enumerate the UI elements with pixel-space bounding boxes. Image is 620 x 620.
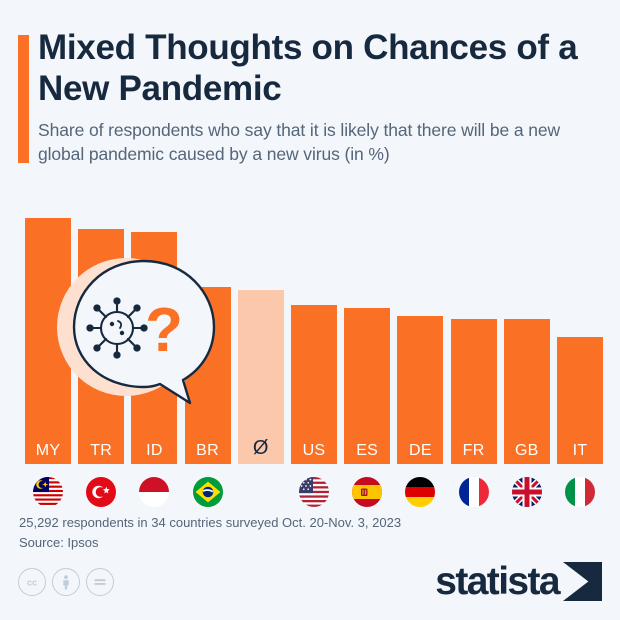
bar-country-code: GB	[504, 442, 550, 460]
bar-country-code: TR	[78, 442, 124, 460]
bar-rect	[185, 287, 231, 464]
creative-commons-icons: cc	[18, 568, 114, 596]
cc-no-derivatives-icon[interactable]	[86, 568, 114, 596]
header: Mixed Thoughts on Chances of a New Pande…	[0, 0, 620, 175]
svg-text:cc: cc	[27, 578, 37, 588]
bar-country-code: BR	[185, 442, 231, 460]
page-title: Mixed Thoughts on Chances of a New Pande…	[38, 27, 608, 109]
bar-rect	[78, 229, 124, 464]
statista-infographic: Mixed Thoughts on Chances of a New Pande…	[0, 0, 620, 620]
statista-logo: statista	[435, 562, 602, 601]
bar-rect	[344, 308, 390, 464]
bar-country-code: MY	[25, 442, 71, 460]
bar-country-code: Ø	[238, 437, 284, 460]
flag-turkey-icon	[86, 477, 116, 507]
statista-mark-icon	[563, 562, 602, 601]
bar-country-code: FR	[451, 442, 497, 460]
flag-brazil-icon	[193, 477, 223, 507]
bar-country-code: US	[291, 442, 337, 460]
flag-united-kingdom-icon	[512, 477, 542, 507]
footnote: 25,292 respondents in 34 countries surve…	[19, 513, 401, 553]
cc-license-icon[interactable]: cc	[18, 568, 46, 596]
footnote-respondents: 25,292 respondents in 34 countries surve…	[19, 513, 401, 533]
bar-country-code: ES	[344, 442, 390, 460]
bar-rect	[131, 232, 177, 464]
flag-malaysia-icon	[33, 477, 63, 507]
cc-attribution-icon[interactable]	[52, 568, 80, 596]
accent-bar	[18, 35, 29, 163]
statista-wordmark: statista	[435, 562, 559, 601]
page-subtitle: Share of respondents who say that it is …	[38, 118, 603, 166]
bottom-bar: cc statista	[0, 556, 620, 620]
footnote-source: Source: Ipsos	[19, 533, 401, 553]
flag-italy-icon	[565, 477, 595, 507]
bar-rect	[291, 305, 337, 464]
bar-country-code: ID	[131, 442, 177, 460]
flag-united-states-icon	[299, 477, 329, 507]
bar-chart: 68MY65TR64ID49BR48Ø44US43ES41DE40FR40GB3…	[0, 175, 620, 513]
bar-country-code: IT	[557, 442, 603, 460]
bar-country-code: DE	[397, 442, 443, 460]
flag-germany-icon	[405, 477, 435, 507]
flag-france-icon	[459, 477, 489, 507]
flag-indonesia-icon	[139, 477, 169, 507]
flag-spain-icon	[352, 477, 382, 507]
bar-rect	[25, 218, 71, 464]
